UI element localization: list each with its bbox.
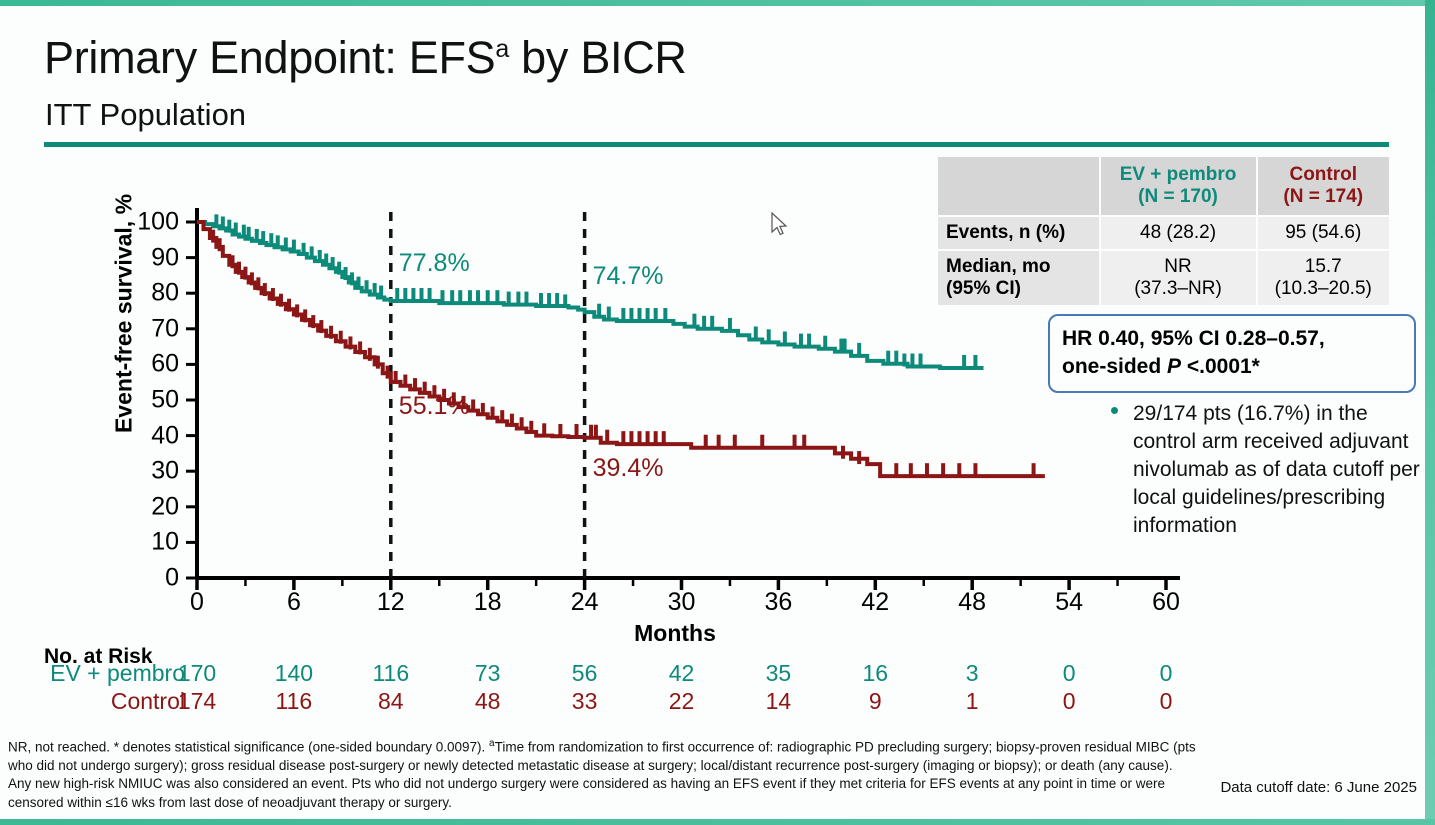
x-axis-tick-18: 18	[463, 588, 513, 617]
risk-cell: 116	[363, 660, 419, 687]
stats-row-events: Events, n (%) 48 (28.2) 95 (54.6)	[938, 217, 1389, 249]
y-axis-tick-30: 30	[119, 457, 179, 486]
risk-cell: 84	[363, 688, 419, 715]
hazard-ratio-box: HR 0.40, 95% CI 0.28–0.57, one-sided P <…	[1048, 314, 1416, 393]
curve-ev-pembro	[197, 222, 984, 368]
stats-header-blank	[938, 157, 1099, 215]
risk-cell: 174	[169, 688, 225, 715]
stats-header-control-n: (N = 174)	[1264, 186, 1384, 208]
risk-cell: 56	[557, 660, 613, 687]
stats-row-median-label-line1: Median, mo	[946, 256, 1093, 278]
footnote-part1: NR, not reached. * denotes statistical s…	[8, 740, 489, 755]
x-axis-tick-30: 30	[657, 588, 707, 617]
y-axis-tick-20: 20	[119, 492, 179, 521]
hazard-ratio-p-value: <.0001*	[1181, 355, 1260, 378]
hazard-ratio-line2: one-sided P <.0001*	[1062, 353, 1402, 381]
risk-row-label-control: Control	[0, 688, 185, 715]
annotation-control-12mo: 55.1%	[399, 392, 470, 421]
summary-statistics-table: EV + pembro (N = 170) Control (N = 174) …	[936, 155, 1391, 307]
y-axis-tick-10: 10	[119, 528, 179, 557]
stats-row-median-label-line2: (95% CI)	[946, 278, 1093, 300]
y-axis-tick-0: 0	[119, 564, 179, 593]
x-axis-tick-6: 6	[269, 588, 319, 617]
annotation-control-24mo: 39.4%	[593, 454, 664, 483]
stats-row-median: Median, mo (95% CI) NR (37.3–NR) 15.7 (1…	[938, 251, 1389, 305]
stats-header-control-label: Control	[1264, 164, 1384, 186]
risk-cell: 0	[1138, 688, 1194, 715]
x-axis-tick-12: 12	[366, 588, 416, 617]
x-axis-tick-36: 36	[753, 588, 803, 617]
stats-row-events-label: Events, n (%)	[938, 217, 1099, 249]
x-axis-tick-0: 0	[172, 588, 222, 617]
stats-row-median-control-ci: (10.3–20.5)	[1264, 278, 1384, 300]
risk-cell: 33	[557, 688, 613, 715]
risk-cell: 35	[750, 660, 806, 687]
stats-row-median-ev-ci: (37.3–NR)	[1107, 278, 1250, 300]
stats-row-median-ev-value: NR	[1107, 256, 1250, 278]
x-axis-title: Months	[560, 620, 790, 647]
survival-curves	[197, 214, 1045, 476]
data-cutoff-label: Data cutoff date: 6 June 2025	[1220, 779, 1417, 796]
risk-cell: 22	[654, 688, 710, 715]
stats-header-ev-pembro: EV + pembro (N = 170)	[1101, 157, 1256, 215]
stats-header-ev-label: EV + pembro	[1107, 164, 1250, 186]
risk-cell: 170	[169, 660, 225, 687]
risk-cell: 16	[847, 660, 903, 687]
mouse-cursor	[770, 211, 792, 241]
annotation-ev-pembro-24mo: 74.7%	[593, 262, 664, 291]
note-bullet-text: 29/174 pts (16.7%) in the control arm re…	[1133, 402, 1420, 537]
stats-row-median-ev: NR (37.3–NR)	[1101, 251, 1256, 305]
hazard-ratio-onesided-label: one-sided	[1062, 355, 1167, 378]
risk-cell: 116	[266, 688, 322, 715]
note-bullet-item: 29/174 pts (16.7%) in the control arm re…	[1133, 400, 1423, 540]
stats-header-ev-n: (N = 170)	[1107, 186, 1250, 208]
risk-cell: 9	[847, 688, 903, 715]
risk-cell: 140	[266, 660, 322, 687]
risk-cell: 73	[460, 660, 516, 687]
stats-row-events-control: 95 (54.6)	[1258, 217, 1390, 249]
hazard-ratio-line1: HR 0.40, 95% CI 0.28–0.57,	[1062, 325, 1402, 353]
risk-cell: 48	[460, 688, 516, 715]
risk-cell: 1	[944, 688, 1000, 715]
footnote: NR, not reached. * denotes statistical s…	[8, 737, 1198, 812]
bullet-dot-icon	[1111, 407, 1118, 414]
risk-cell: 3	[944, 660, 1000, 687]
x-axis-tick-42: 42	[850, 588, 900, 617]
slide-root: Primary Endpoint: EFSa by BICR ITT Popul…	[0, 0, 1435, 825]
risk-cell: 14	[750, 688, 806, 715]
x-axis-tick-24: 24	[560, 588, 610, 617]
stats-row-median-control-value: 15.7	[1264, 256, 1384, 278]
x-axis-tick-54: 54	[1044, 588, 1094, 617]
stats-row-events-ev: 48 (28.2)	[1101, 217, 1256, 249]
risk-cell: 42	[654, 660, 710, 687]
stats-row-median-label: Median, mo (95% CI)	[938, 251, 1099, 305]
stats-header-control: Control (N = 174)	[1258, 157, 1390, 215]
y-axis-title: Event-free survival, %	[111, 184, 138, 444]
stats-header-row: EV + pembro (N = 170) Control (N = 174)	[938, 157, 1389, 215]
hazard-ratio-p-symbol: P	[1167, 355, 1181, 378]
risk-row-label-ev-pembro: EV + pembro	[0, 660, 185, 687]
x-axis-tick-60: 60	[1141, 588, 1191, 617]
risk-cell: 0	[1138, 660, 1194, 687]
annotation-ev-pembro-12mo: 77.8%	[399, 249, 470, 278]
risk-cell: 0	[1041, 688, 1097, 715]
x-axis-tick-48: 48	[947, 588, 997, 617]
risk-cell: 0	[1041, 660, 1097, 687]
stats-row-median-control: 15.7 (10.3–20.5)	[1258, 251, 1390, 305]
